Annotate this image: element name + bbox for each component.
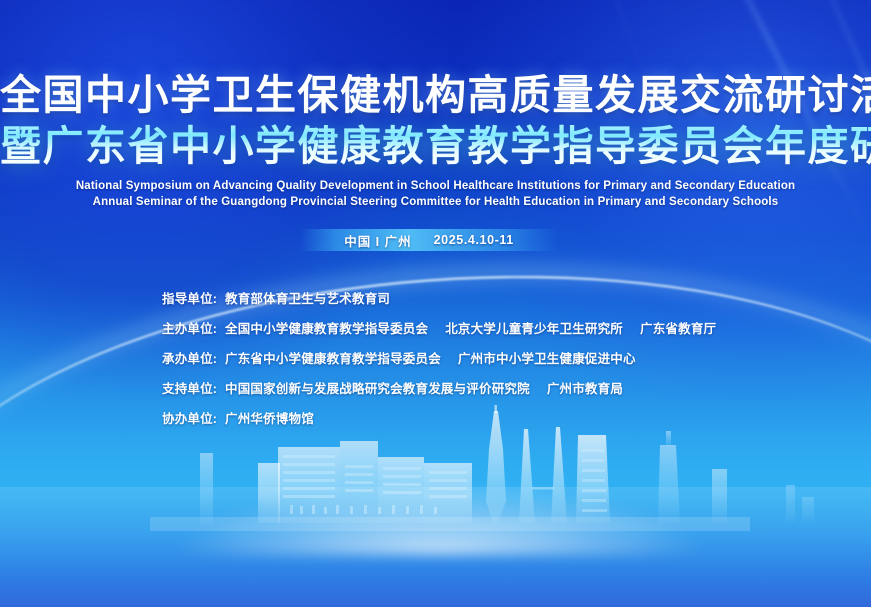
twin-spires	[519, 427, 567, 523]
organization-values: 中国国家创新与发展战略研究会教育发展与评价研究院 广州市教育局	[225, 378, 623, 397]
organization-value: 教育部体育卫生与艺术教育司	[225, 288, 390, 307]
organization-list: 指导单位: 教育部体育卫生与艺术教育司 主办单位: 全国中小学健康教育教学指导委…	[162, 288, 716, 427]
organization-value: 广州华侨博物馆	[225, 408, 314, 427]
organization-row: 主办单位: 全国中小学健康教育教学指导委员会 北京大学儿童青少年卫生研究所 广东…	[162, 318, 716, 337]
organization-label: 指导单位:	[162, 288, 225, 307]
bottom-light-sheen	[0, 487, 871, 607]
organization-value: 中国国家创新与发展战略研究会教育发展与评价研究院	[225, 378, 530, 397]
organization-label: 主办单位:	[162, 318, 225, 337]
organization-value: 广东省中小学健康教育教学指导委员会	[225, 348, 441, 367]
skyline-far-blocks	[786, 485, 814, 523]
school-building	[258, 441, 472, 523]
organization-row: 指导单位: 教育部体育卫生与艺术教育司	[162, 288, 716, 307]
poster-title-line-1: 全国中小学卫生保健机构高质量发展交流研讨活动	[0, 70, 871, 120]
organization-row: 协办单位: 广州华侨博物馆	[162, 408, 716, 427]
poster-subtitle-block: National Symposium on Advancing Quality …	[0, 178, 871, 210]
skyline-haze	[180, 485, 700, 555]
office-tower-right	[658, 431, 727, 523]
organization-row: 承办单位: 广东省中小学健康教育教学指导委员会 广州市中小学卫生健康促进中心	[162, 348, 716, 367]
organization-values: 广东省中小学健康教育教学指导委员会 广州市中小学卫生健康促进中心	[225, 348, 636, 367]
organization-label: 承办单位:	[162, 348, 225, 367]
organization-value: 广州市中小学卫生健康促进中心	[458, 348, 636, 367]
office-tower-left	[200, 453, 213, 525]
organization-value: 北京大学儿童青少年卫生研究所	[445, 318, 623, 337]
ctf-finance-centre	[576, 435, 610, 523]
organization-row: 支持单位: 中国国家创新与发展战略研究会教育发展与评价研究院 广州市教育局	[162, 378, 716, 397]
organization-label: 支持单位:	[162, 378, 225, 397]
poster-subtitle-line-1: National Symposium on Advancing Quality …	[0, 178, 871, 194]
organization-values: 全国中小学健康教育教学指导委员会 北京大学儿童青少年卫生研究所 广东省教育厅	[225, 318, 716, 337]
location-date-badge: 中国 I 广州 2025.4.10-11	[300, 229, 558, 251]
poster-title-line-2: 暨广东省中小学健康教育教学指导委员会年度研讨活动	[0, 120, 871, 172]
badge-location-label: 中国 I 广州	[344, 231, 411, 250]
organization-value: 广州市教育局	[547, 378, 623, 397]
organization-values: 广州华侨博物馆	[225, 408, 314, 427]
organization-values: 教育部体育卫生与艺术教育司	[225, 288, 390, 307]
poster-subtitle-line-2: Annual Seminar of the Guangdong Provinci…	[0, 194, 871, 210]
organization-value: 广东省教育厅	[640, 318, 716, 337]
poster-title-block: 全国中小学卫生保健机构高质量发展交流研讨活动 暨广东省中小学健康教育教学指导委员…	[0, 70, 871, 172]
conference-poster: 全国中小学卫生保健机构高质量发展交流研讨活动 暨广东省中小学健康教育教学指导委员…	[0, 0, 871, 607]
badge-date-label: 2025.4.10-11	[434, 233, 514, 247]
organization-value: 全国中小学健康教育教学指导委员会	[225, 318, 428, 337]
organization-label: 协办单位:	[162, 408, 225, 427]
